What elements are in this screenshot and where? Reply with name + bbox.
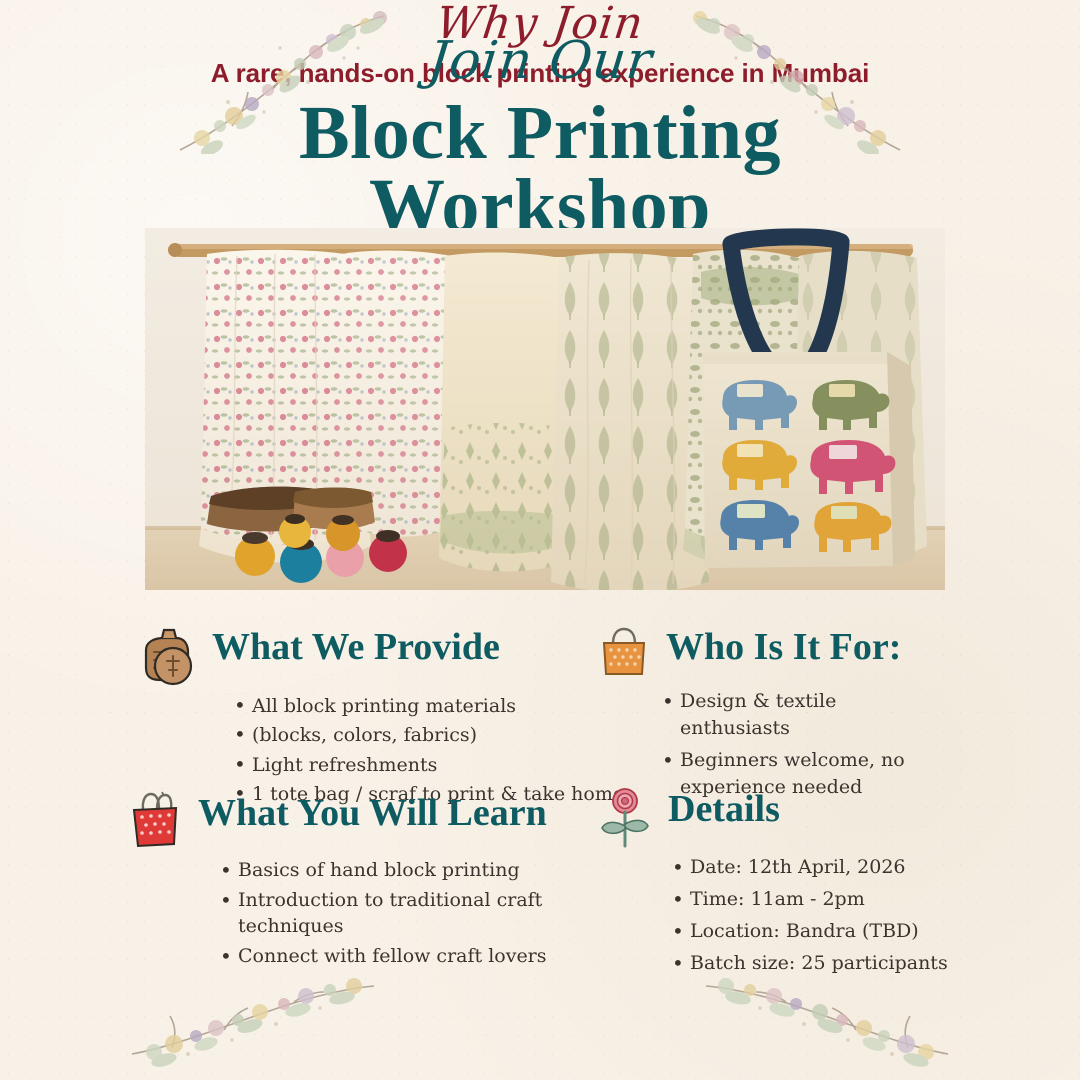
learn-bullet-list: Basics of hand block printing Introducti… — [218, 858, 548, 970]
section-what-you-will-learn: What You Will Learn Basics of hand block… — [126, 790, 548, 975]
printing-blocks-icon — [136, 624, 198, 690]
list-item: Batch size: 25 participants — [670, 950, 948, 977]
poster-header: Join Our Block Printing Workshop — [0, 34, 1080, 243]
floral-branch-bottom-left-icon — [126, 962, 376, 1072]
section-what-we-provide: What We Provide All block printing mater… — [136, 624, 624, 811]
who-bullet-list: Design & textile enthusiasts Beginners w… — [660, 688, 930, 801]
details-bullet-list: Date: 12th April, 2026 Time: 11am - 2pm … — [670, 854, 948, 977]
section-header: What You Will Learn — [126, 790, 548, 854]
section-header: What We Provide — [136, 624, 624, 690]
section-details: Details Date: 12th April, 2026 Time: 11a… — [596, 786, 948, 982]
list-item: Time: 11am - 2pm — [670, 886, 948, 913]
list-item: (blocks, colors, fabrics) — [232, 723, 624, 747]
orange-tote-bag-icon — [596, 624, 652, 684]
page-title: Block Printing Workshop — [0, 97, 1080, 243]
section-header: Details — [596, 786, 948, 852]
list-item: Introduction to traditional craft techni… — [218, 888, 548, 939]
poster-canvas: Join Our Block Printing Workshop — [0, 0, 1080, 1080]
list-item: Connect with fellow craft lovers — [218, 944, 548, 969]
list-item: Location: Bandra (TBD) — [670, 918, 948, 945]
list-item: All block printing materials — [232, 694, 624, 718]
rose-icon — [596, 786, 654, 852]
title-line-1: Block Printing — [299, 91, 781, 175]
section-title: What We Provide — [212, 624, 500, 668]
list-item: Date: 12th April, 2026 — [670, 854, 948, 881]
hero-illustration — [145, 228, 945, 590]
section-who-is-it-for: Who Is It For: Design & textile enthusia… — [596, 624, 930, 806]
list-item: Design & textile enthusiasts — [660, 688, 930, 742]
red-tote-bag-icon — [126, 790, 184, 854]
list-item: Basics of hand block printing — [218, 858, 548, 883]
section-title: What You Will Learn — [198, 790, 547, 834]
section-header: Who Is It For: — [596, 624, 930, 684]
section-title: Details — [668, 786, 780, 830]
list-item: Light refreshments — [232, 753, 624, 777]
eyebrow-text: Join Our — [0, 34, 1080, 89]
hero-photo — [145, 228, 945, 590]
section-title: Who Is It For: — [666, 624, 901, 668]
